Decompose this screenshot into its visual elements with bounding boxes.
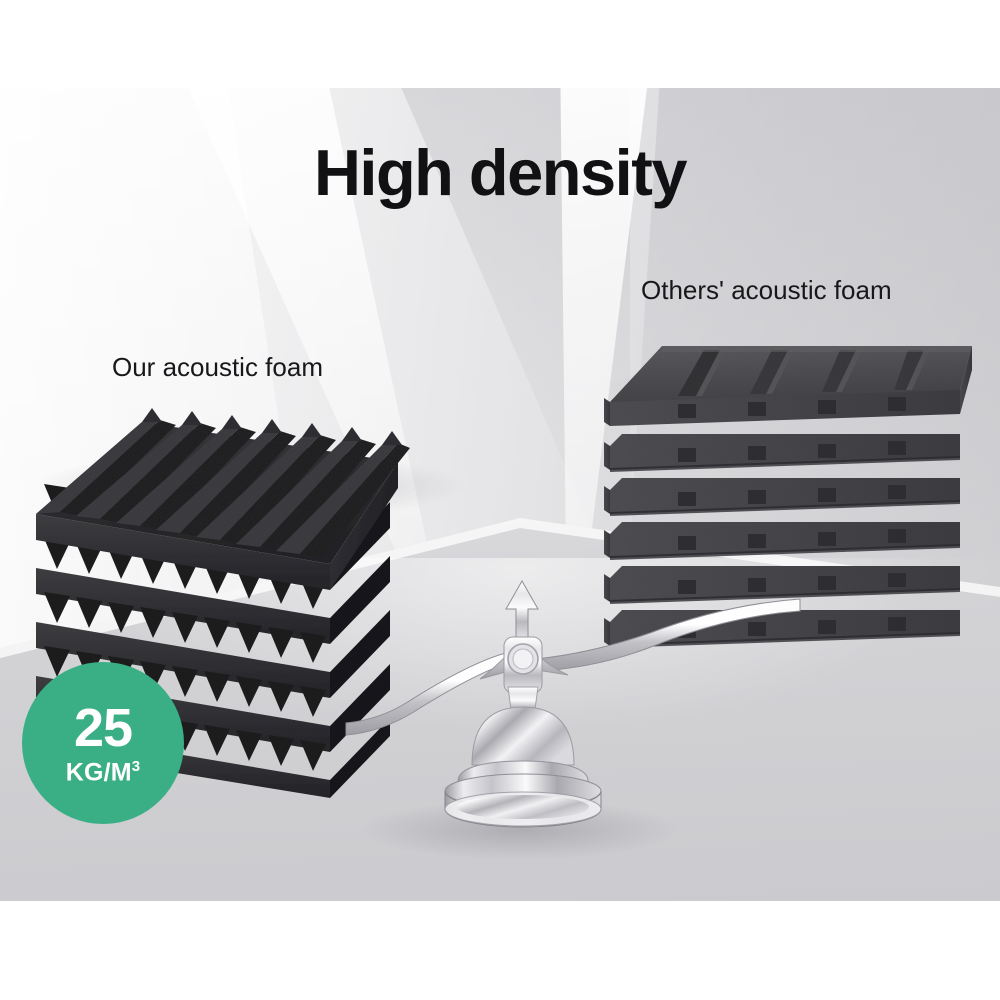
density-unit: KG/M3 [66,759,141,785]
page-title: High density [0,140,1000,205]
our-foam-label: Our acoustic foam [112,352,323,383]
density-value: 25 [74,701,132,755]
others-foam-label: Others' acoustic foam [641,275,892,306]
density-badge: 25 KG/M3 [22,662,184,824]
product-feature-image: 25 KG/M3 High density Our acoustic foam … [0,0,1000,1000]
balance-scale [330,575,930,845]
pointer-arrow-icon [506,581,538,641]
